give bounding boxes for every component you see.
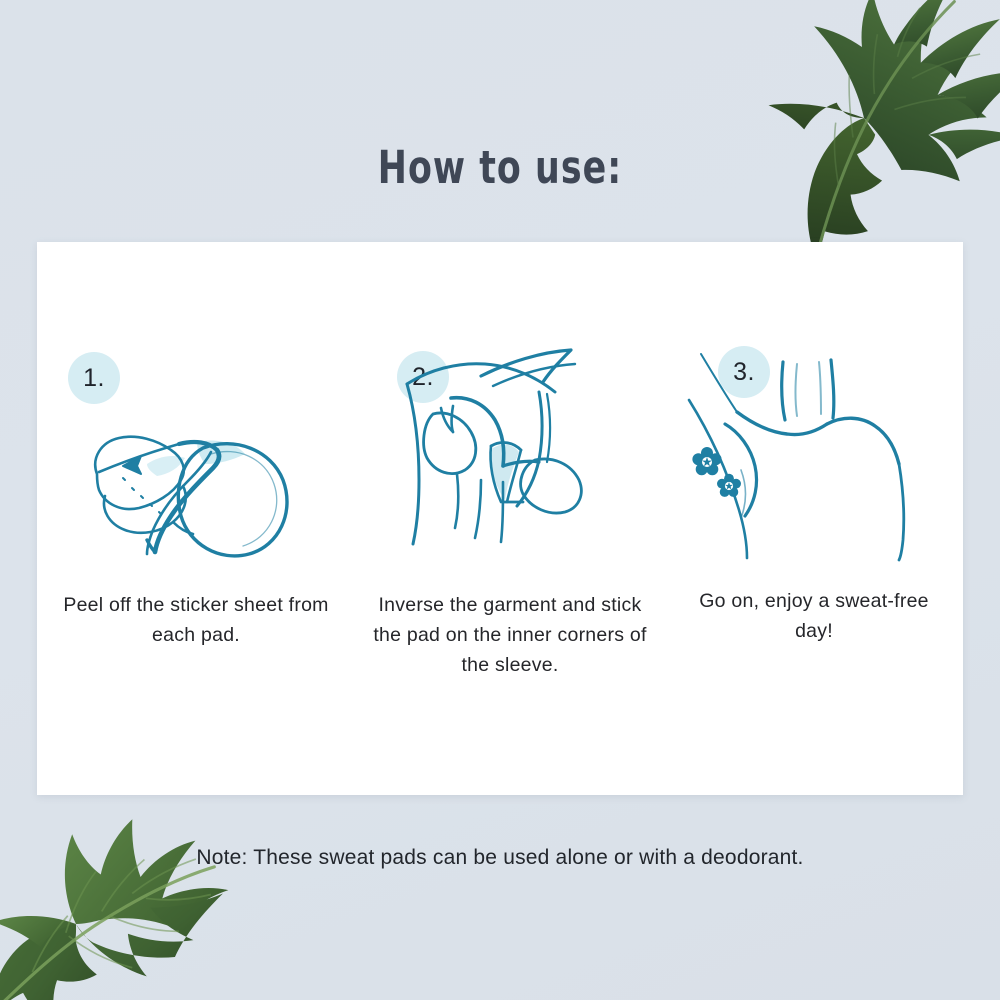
- monstera-leaf-bottom-left-icon: [0, 778, 290, 1000]
- footer-note: Note: These sweat pads can be used alone…: [0, 846, 1000, 870]
- page-title: How to use:: [70, 141, 930, 194]
- step-3: 3.: [665, 242, 963, 795]
- infographic-canvas: How to use: 1.: [0, 0, 1000, 1000]
- step-2: 2.: [355, 242, 665, 795]
- step-1-caption: Peel off the sticker sheet from each pad…: [37, 590, 355, 650]
- step-3-caption: Go on, enjoy a sweat-free day!: [665, 586, 963, 646]
- step-1: 1.: [37, 242, 355, 795]
- garment-sleeve-apply-pad-icon: [385, 342, 635, 562]
- sweat-pad-peel-sticker-icon: [75, 412, 303, 562]
- step-2-caption: Inverse the garment and stick the pad on…: [355, 590, 665, 680]
- monstera-leaf-top-right-icon: [696, 0, 1000, 246]
- steps-row: 1.: [37, 242, 963, 795]
- person-shoulders-fresh-underarm-icon: [685, 350, 955, 565]
- step-1-number-badge: 1.: [68, 352, 120, 404]
- steps-card: 1.: [37, 242, 963, 795]
